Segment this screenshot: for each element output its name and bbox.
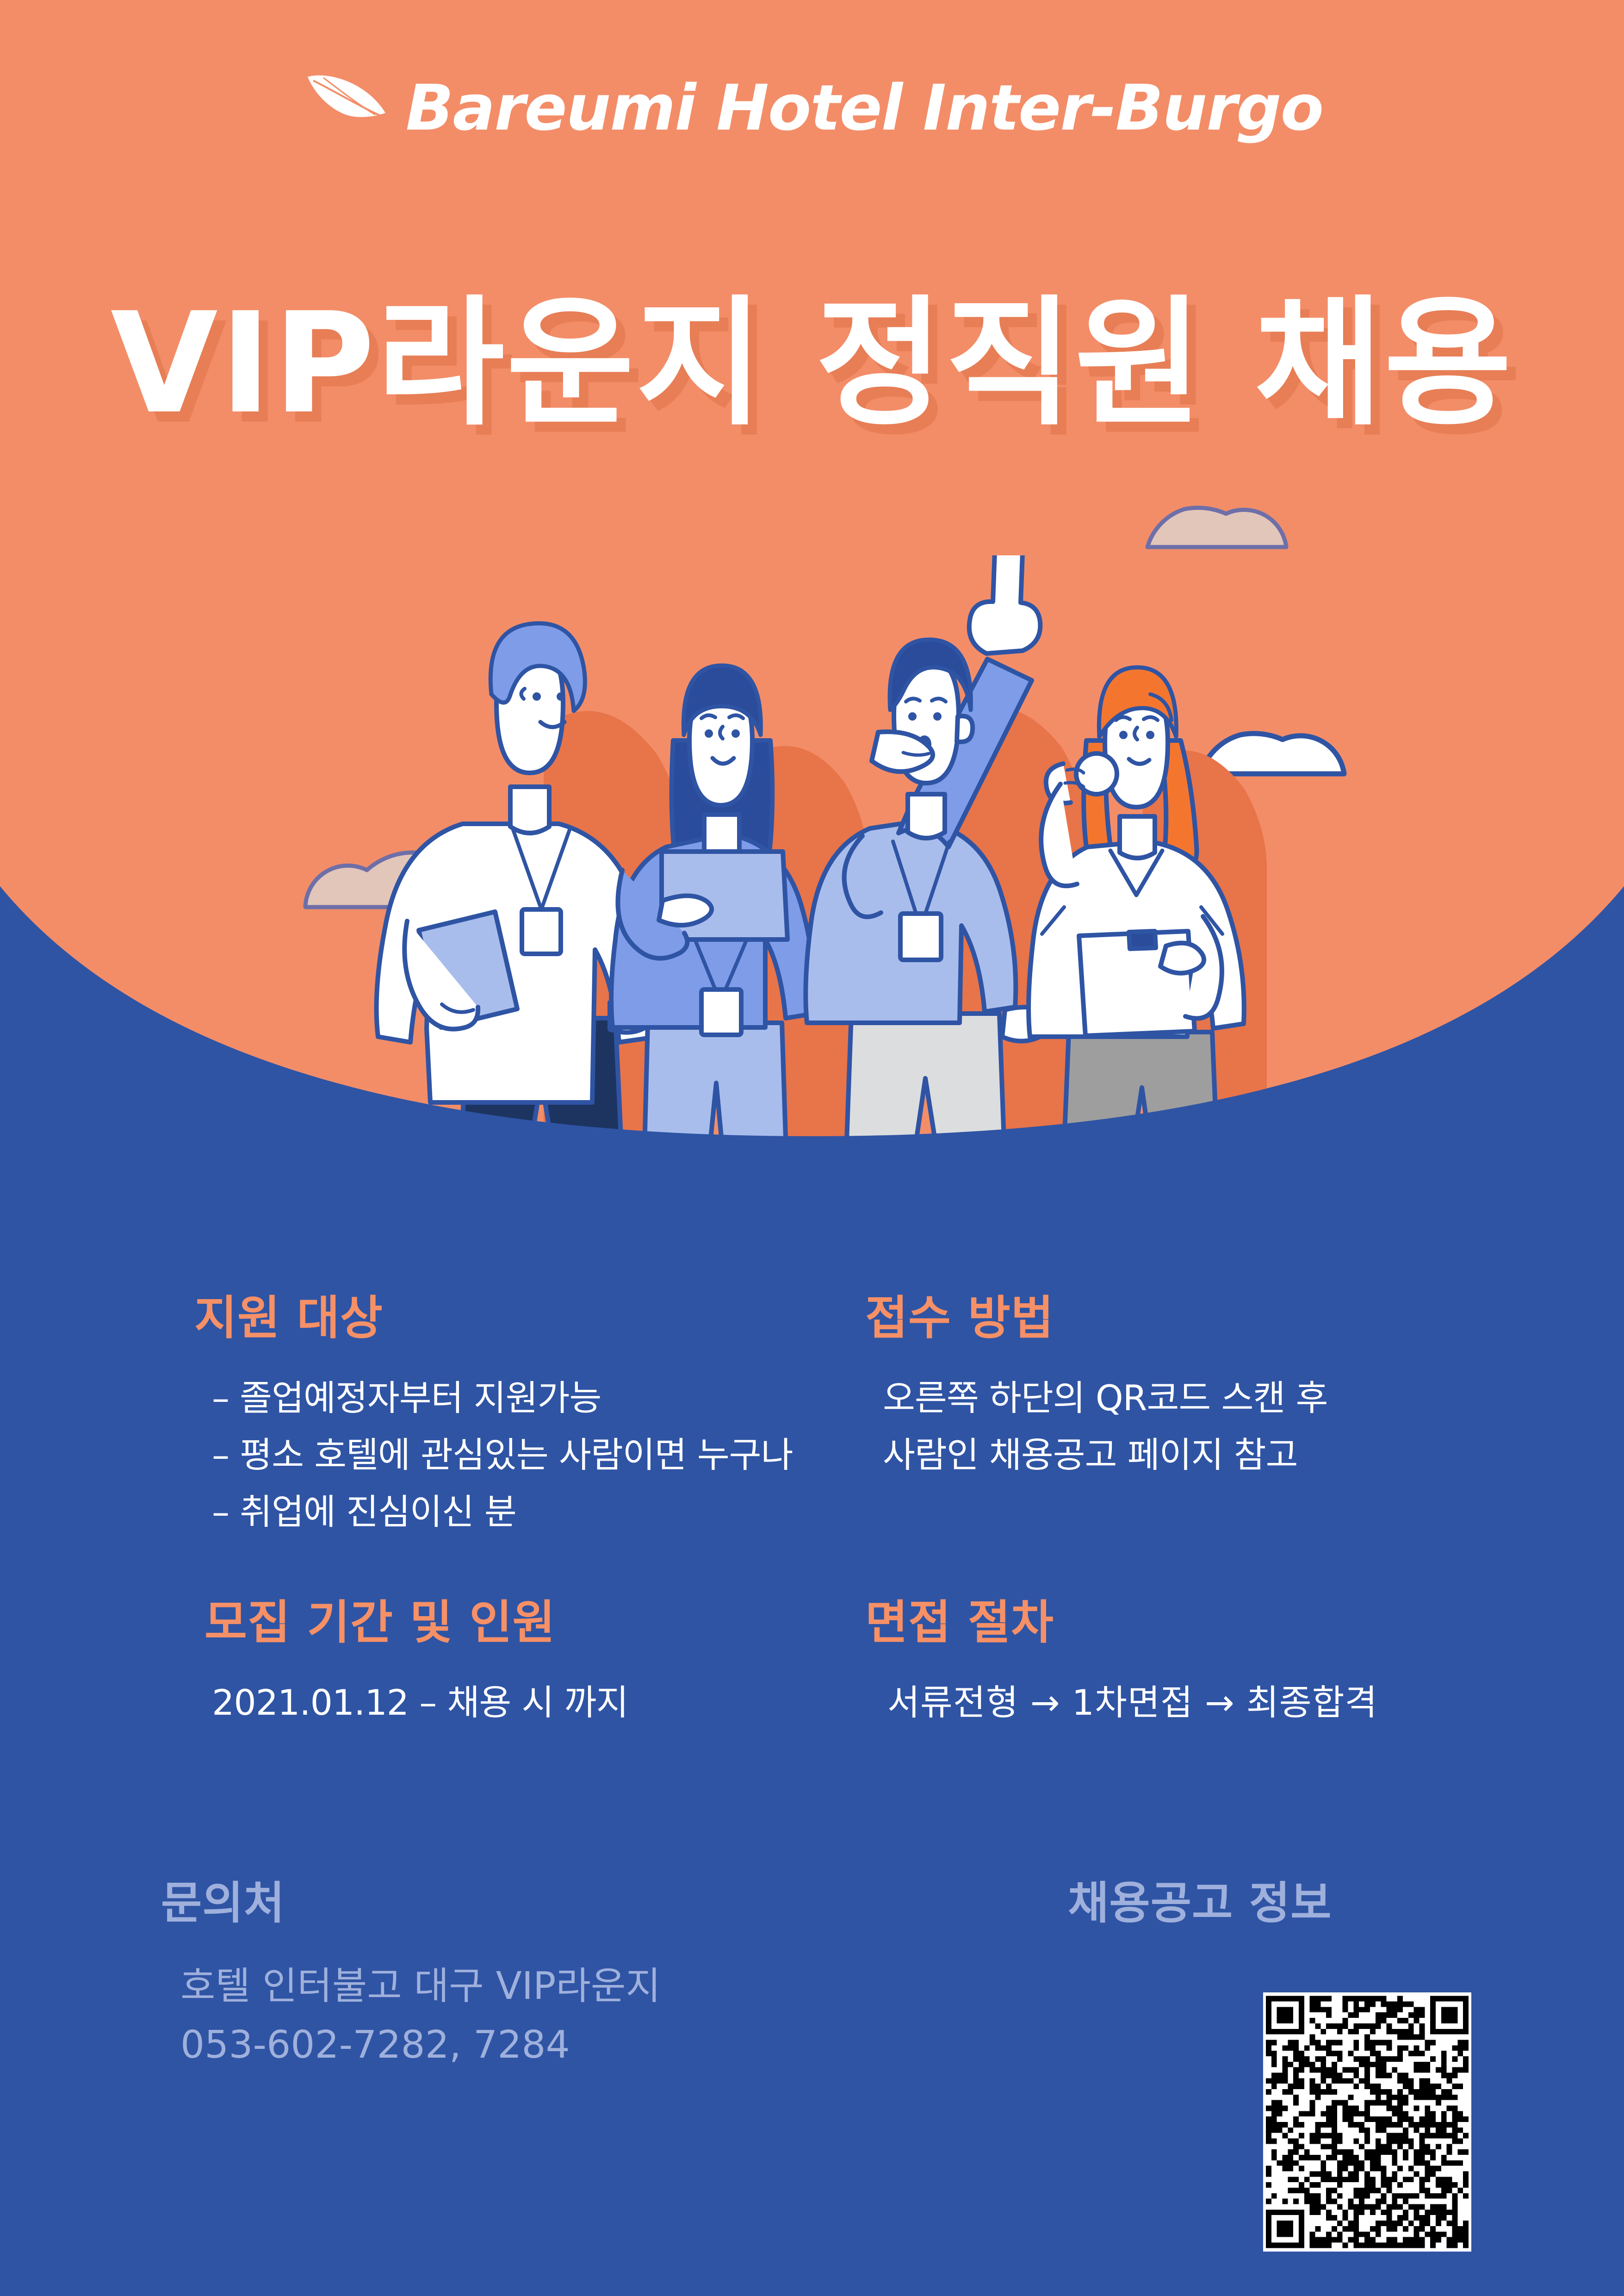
info-block-how-to-apply: 접수 방법 오른쪽 하단의 QR코드 스캔 후 사람인 채용공고 페이지 참고 [842, 1291, 1494, 1540]
contact-body: 호텔 인터불고 대구 VIP라운지 053-602-7282, 7284 [153, 1957, 869, 2074]
posting-heading: 채용공고 정보 [887, 1879, 1494, 1928]
how-to-apply-heading: 접수 방법 [865, 1291, 1494, 1344]
how-to-apply-body: 오른쪽 하단의 QR코드 스캔 후 사람인 채용공고 페이지 참고 [865, 1369, 1494, 1483]
contact-phone: 053-602-7282, 7284 [180, 2016, 869, 2074]
eligibility-line-3: – 취업에 진심이신 분 [212, 1483, 805, 1540]
feather-icon [301, 68, 394, 143]
contact-heading: 문의처 [153, 1879, 869, 1928]
how-to-apply-line-2: 사람인 채용공고 페이지 참고 [883, 1426, 1494, 1483]
how-to-apply-line-1: 오른쪽 하단의 QR코드 스캔 후 [883, 1369, 1494, 1426]
info-block-interview: 면접 절차 서류전형 → 1차면접 → 최종합격 [842, 1596, 1494, 1731]
qr-code-matrix [1266, 1995, 1469, 2249]
footer-contact: 문의처 호텔 인터불고 대구 VIP라운지 053-602-7282, 7284 [153, 1879, 869, 2074]
interview-heading: 면접 절차 [865, 1596, 1494, 1649]
recruitment-poster: Bareumi Hotel Inter-Burgo VIP라운지 정직원 채용 … [0, 0, 1624, 2296]
info-block-eligibility: 지원 대상 – 졸업예정자부터 지원가능 – 평소 호텔에 관심있는 사람이면 … [153, 1291, 805, 1540]
brand-logo: Bareumi Hotel Inter-Burgo [0, 68, 1624, 143]
info-block-period: 모집 기간 및 인원 2021.01.12 – 채용 시 까지 [153, 1596, 805, 1731]
interview-line-1: 서류전형 → 1차면접 → 최종합격 [887, 1674, 1494, 1731]
interview-body: 서류전형 → 1차면접 → 최종합격 [865, 1674, 1494, 1731]
page-title: VIP라운지 정직원 채용 [0, 294, 1624, 433]
info-grid: 지원 대상 – 졸업예정자부터 지원가능 – 평소 호텔에 관심있는 사람이면 … [153, 1291, 1494, 1731]
qr-code-icon[interactable] [1263, 1992, 1471, 2252]
eligibility-heading: 지원 대상 [194, 1291, 805, 1344]
eligibility-line-2: – 평소 호텔에 관심있는 사람이면 누구나 [212, 1426, 805, 1483]
period-line-1: 2021.01.12 – 채용 시 까지 [212, 1674, 805, 1731]
contact-address: 호텔 인터불고 대구 VIP라운지 [180, 1957, 869, 2016]
period-body: 2021.01.12 – 채용 시 까지 [194, 1674, 805, 1731]
brand-name: Bareumi Hotel Inter-Burgo [406, 72, 1323, 145]
eligibility-body: – 졸업예정자부터 지원가능 – 평소 호텔에 관심있는 사람이면 누구나 – … [194, 1369, 805, 1540]
period-heading: 모집 기간 및 인원 [194, 1596, 805, 1649]
eligibility-line-1: – 졸업예정자부터 지원가능 [212, 1369, 805, 1426]
